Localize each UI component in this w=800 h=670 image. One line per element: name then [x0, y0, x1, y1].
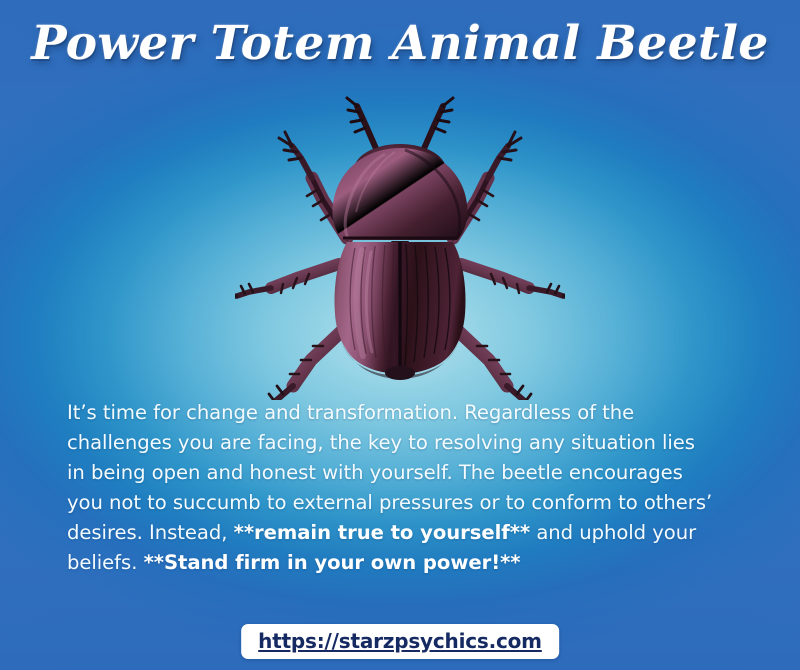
poster-canvas: Power Totem Animal Beetle: [0, 0, 800, 670]
paragraph-segment-2-bold: **remain true to yourself**: [234, 521, 531, 544]
website-url-button[interactable]: https://starzpsychics.com: [241, 624, 559, 659]
beetle-illustration: [235, 92, 565, 400]
title-container: Power Totem Animal Beetle: [0, 16, 800, 71]
body-paragraph: It’s time for change and transformation.…: [67, 398, 717, 578]
paragraph-segment-4-bold: **Stand firm in your own power!**: [144, 551, 521, 574]
website-url-label[interactable]: https://starzpsychics.com: [258, 629, 542, 653]
page-title: Power Totem Animal Beetle: [31, 16, 768, 71]
